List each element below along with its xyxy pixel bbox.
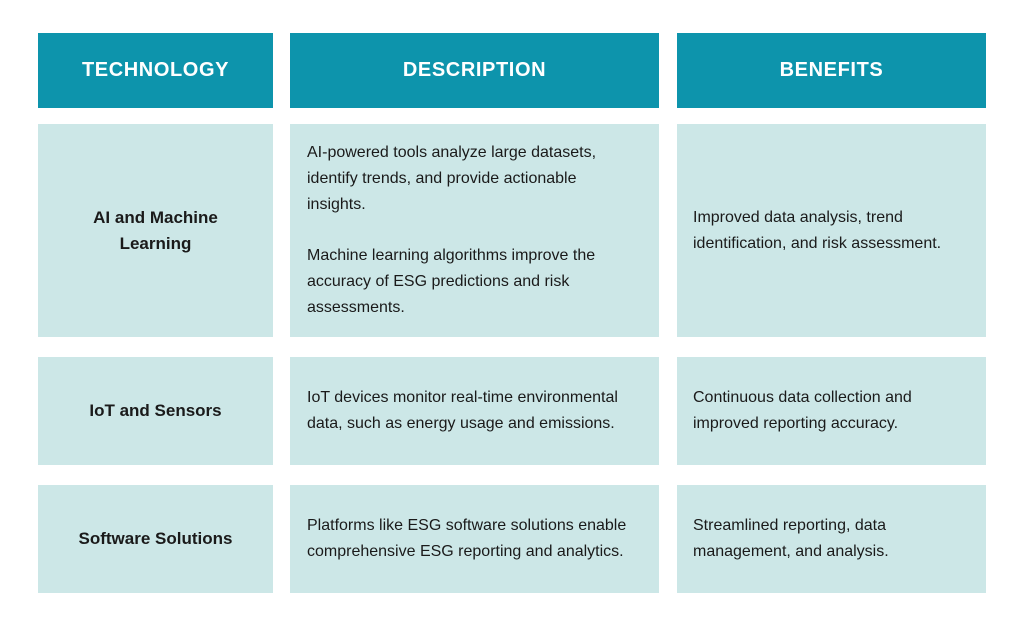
table: TECHNOLOGY DESCRIPTION BENEFITS AI and M… (38, 33, 986, 593)
esg-technology-table: TECHNOLOGY DESCRIPTION BENEFITS AI and M… (38, 33, 986, 593)
cell-benefits: Streamlined reporting, data management, … (677, 485, 986, 593)
table-row: Software Solutions Platforms like ESG so… (38, 485, 986, 593)
cell-description: IoT devices monitor real-time environmen… (290, 357, 659, 465)
paragraph: Platforms like ESG software solutions en… (307, 513, 637, 565)
cell-description: AI-powered tools analyze large datasets,… (290, 124, 659, 337)
paragraph: Machine learning algorithms improve the … (307, 243, 637, 321)
column-header-description: DESCRIPTION (290, 33, 659, 108)
paragraph: Streamlined reporting, data management, … (693, 513, 966, 565)
cell-technology: AI and Machine Learning (38, 124, 273, 337)
paragraph: IoT devices monitor real-time environmen… (307, 385, 637, 437)
paragraph: Improved data analysis, trend identifica… (693, 205, 966, 257)
cell-benefits: Improved data analysis, trend identifica… (677, 124, 986, 337)
cell-technology: Software Solutions (38, 485, 273, 593)
column-header-technology: TECHNOLOGY (38, 33, 273, 108)
cell-description: Platforms like ESG software solutions en… (290, 485, 659, 593)
paragraph: AI-powered tools analyze large datasets,… (307, 140, 637, 218)
cell-technology: IoT and Sensors (38, 357, 273, 465)
column-header-benefits: BENEFITS (677, 33, 986, 108)
table-row: AI and Machine Learning AI-powered tools… (38, 124, 986, 337)
table-header-row: TECHNOLOGY DESCRIPTION BENEFITS (38, 33, 986, 108)
table-row: IoT and Sensors IoT devices monitor real… (38, 357, 986, 465)
paragraph: Continuous data collection and improved … (693, 385, 966, 437)
cell-benefits: Continuous data collection and improved … (677, 357, 986, 465)
